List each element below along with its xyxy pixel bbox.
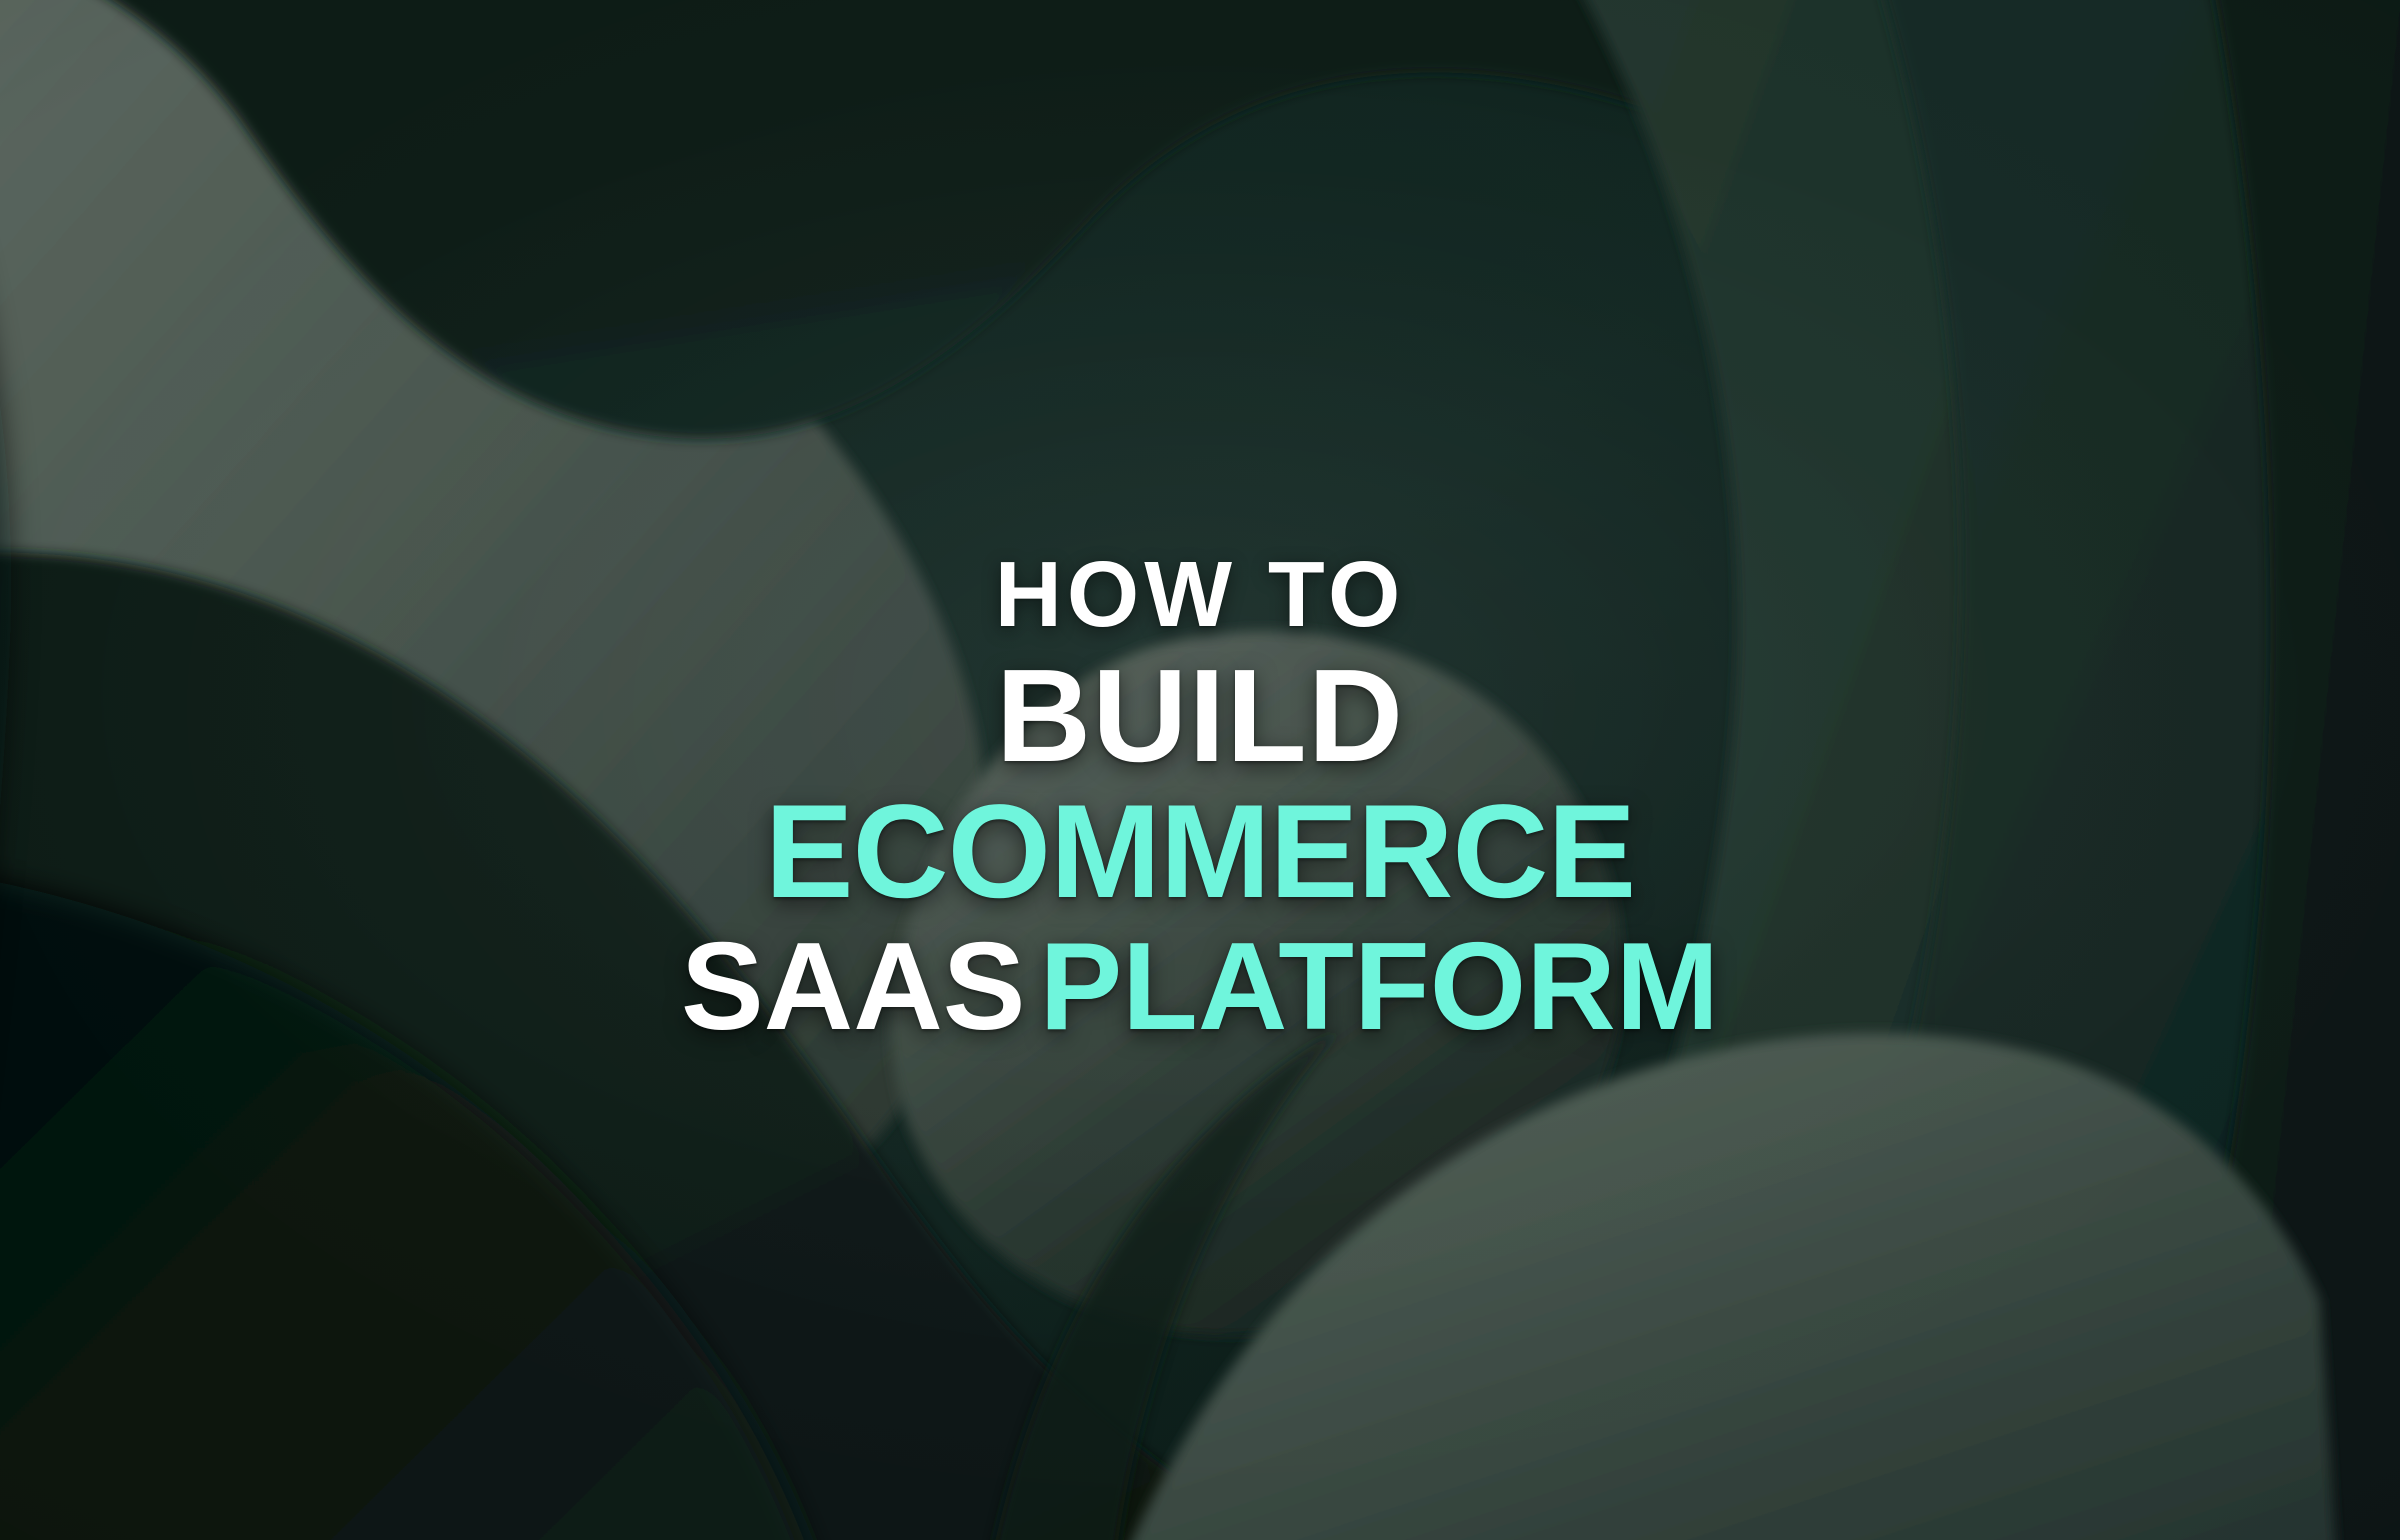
title-line-build: BUILD <box>0 650 2400 782</box>
title-line-how-to: HOW TO <box>0 548 2400 641</box>
title-word-platform: PLATFORM <box>1039 918 1719 1056</box>
hero-title-block: HOW TO BUILD ECOMMERCE SAASPLATFORM <box>0 548 2400 1049</box>
hero-banner-canvas: HOW TO BUILD ECOMMERCE SAASPLATFORM <box>0 0 2400 1540</box>
title-line-ecommerce: ECOMMERCE <box>0 786 2400 919</box>
title-word-saas: SAAS <box>681 918 1026 1056</box>
title-line-saas-platform: SAASPLATFORM <box>0 925 2400 1049</box>
